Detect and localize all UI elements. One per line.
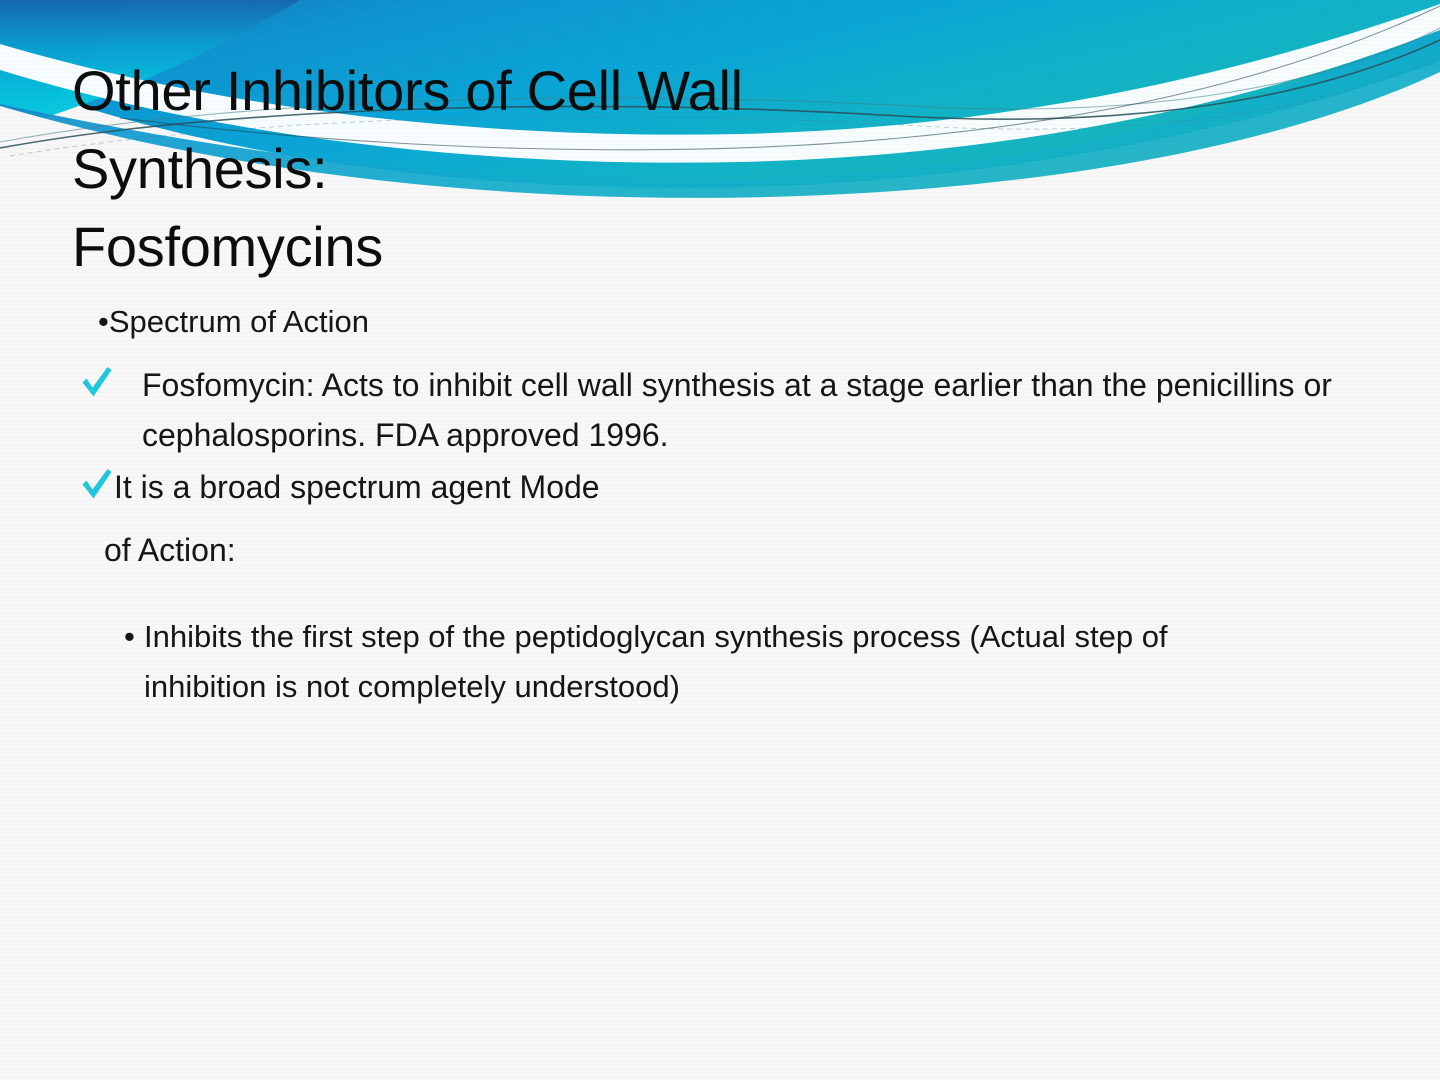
heading-of-action: of Action: — [104, 526, 1440, 574]
title-line-3: Fosfomycins — [72, 208, 1352, 286]
bullet-fosfomycin-mechanism-text: Fosfomycin: Acts to inhibit cell wall sy… — [142, 360, 1332, 460]
body-content: •Spectrum of Action Fosfomycin: Acts to … — [0, 300, 1440, 712]
title-line-1: Other Inhibitors of Cell Wall — [72, 52, 1352, 130]
bullet-inhibits-first-step-text: Inhibits the first step of the peptidogl… — [144, 612, 1204, 712]
slide-canvas: Other Inhibitors of Cell Wall Synthesis:… — [0, 0, 1440, 1080]
bullet-broad-spectrum-agent-text: It is a broad spectrum agent Mode — [114, 462, 600, 512]
bullet-inhibits-first-step: • Inhibits the first step of the peptido… — [124, 612, 1440, 712]
bullet-spectrum-of-action: •Spectrum of Action — [98, 300, 1440, 344]
bullet-fosfomycin-mechanism: Fosfomycin: Acts to inhibit cell wall sy… — [80, 360, 1440, 460]
check-icon — [80, 465, 114, 509]
bullet-dot-icon: • — [124, 612, 144, 662]
title-line-2: Synthesis: — [72, 130, 1352, 208]
slide-content: Other Inhibitors of Cell Wall Synthesis:… — [0, 0, 1440, 1080]
check-icon — [80, 363, 114, 407]
page-title: Other Inhibitors of Cell Wall Synthesis:… — [72, 52, 1352, 286]
bullet-broad-spectrum-agent: It is a broad spectrum agent Mode — [80, 462, 1440, 512]
